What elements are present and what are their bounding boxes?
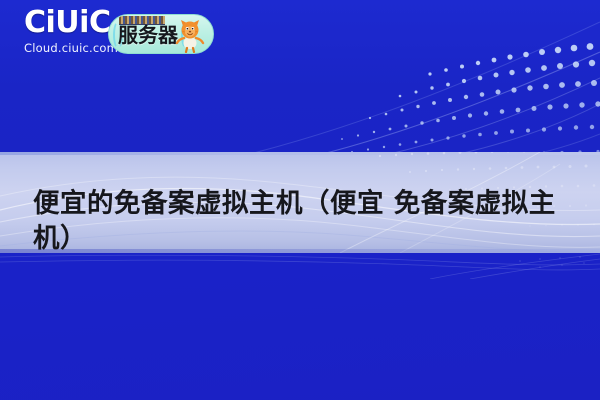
page-title: 便宜的免备案虚拟主机（便宜 免备案虚拟主机） xyxy=(33,186,579,256)
mascot-icon xyxy=(173,17,207,53)
server-badge[interactable]: 服务器 xyxy=(108,14,214,54)
band-top-edge xyxy=(0,152,600,155)
badge-label: 服务器 xyxy=(118,24,178,46)
promo-banner: CiUiC Cloud.ciuic.com 服务器 xyxy=(0,0,600,400)
